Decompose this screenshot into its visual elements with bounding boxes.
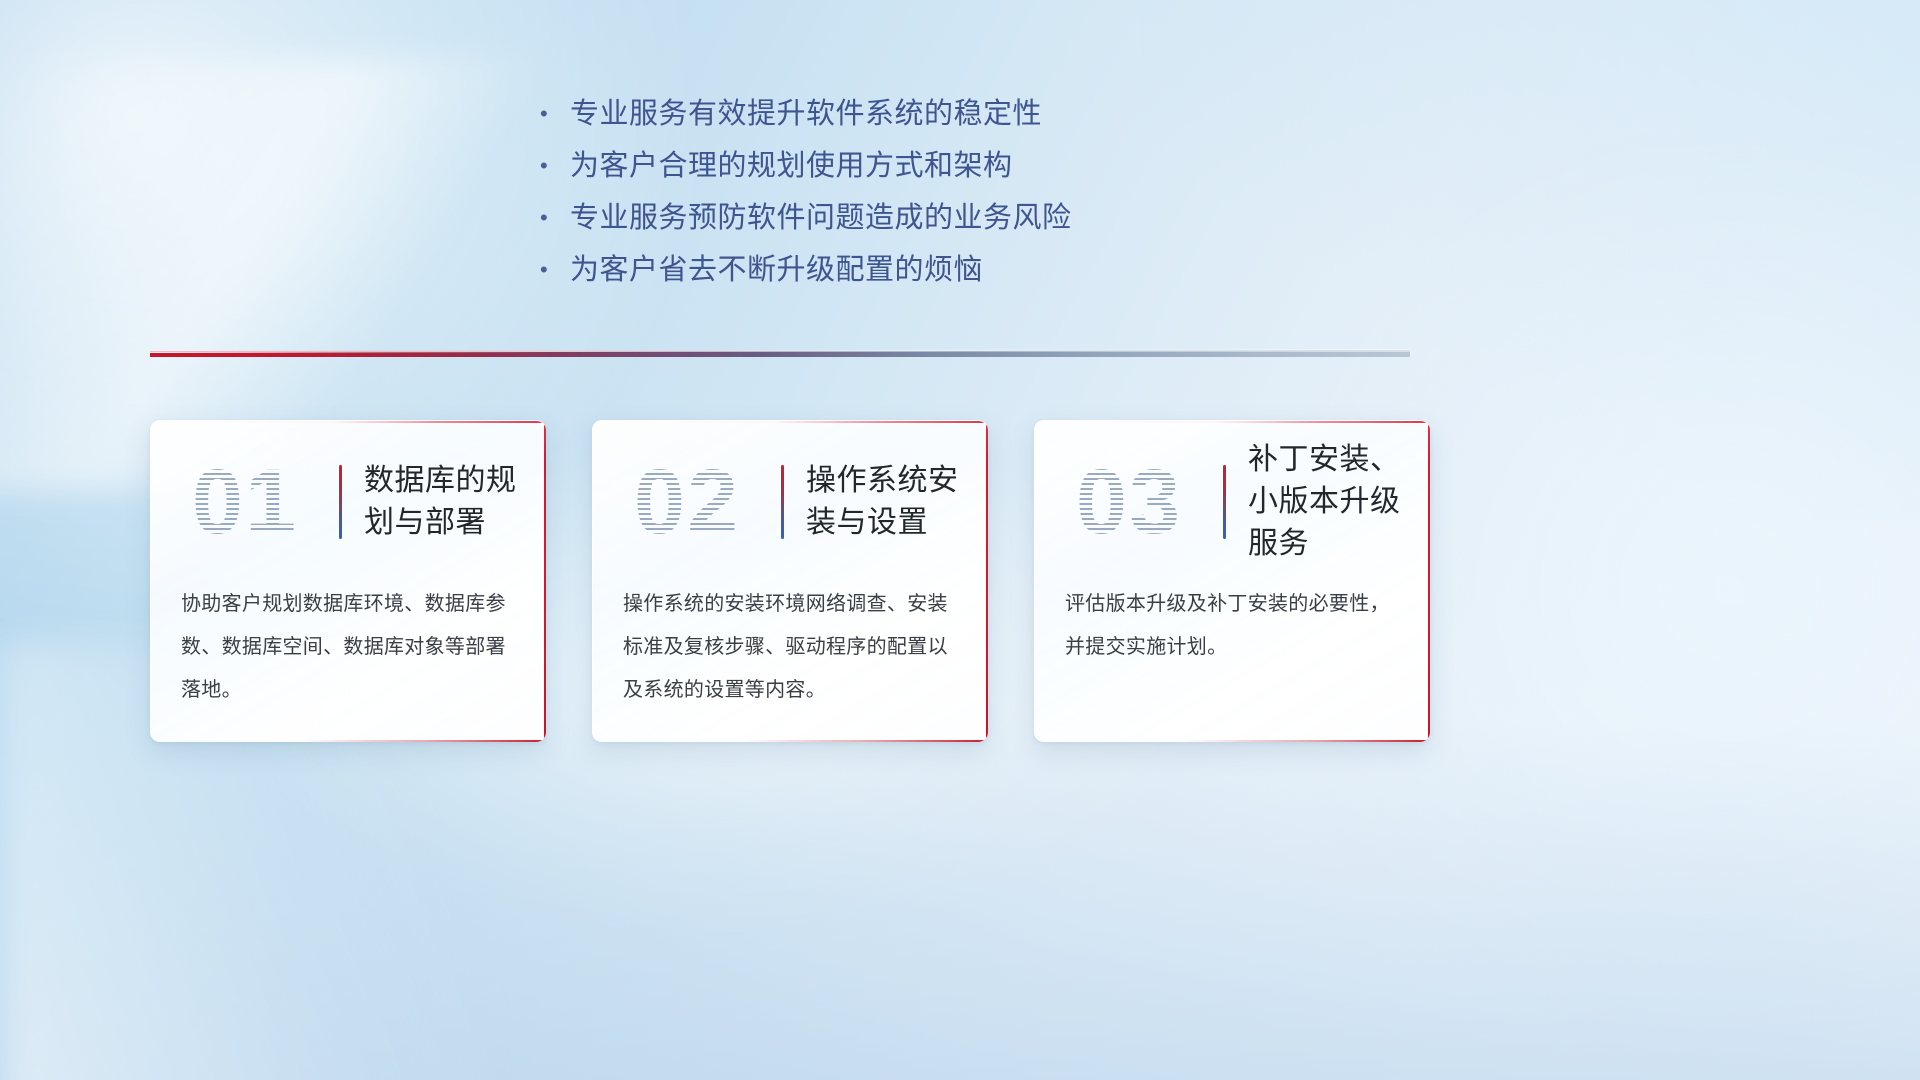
card-description: 操作系统的安装环境网络调查、安装标准及复核步骤、驱动程序的配置以及系统的设置等内… (623, 583, 962, 712)
bullet-item-label: 为客户省去不断升级配置的烦恼 (570, 248, 983, 292)
card-number-watermark: 02 (593, 443, 781, 561)
bullet-dot-icon: • (540, 144, 570, 188)
divider-highlight (150, 349, 1410, 352)
card-number-watermark: 01 (151, 443, 339, 561)
service-card-01[interactable]: 01 数据库的规划与部署 协助客户规划数据库环境、数据库参数、数据库空间、数据库… (150, 420, 546, 742)
card-title: 补丁安装、小版本升级服务 (1248, 439, 1430, 565)
list-item: • 为客户合理的规划使用方式和架构 (540, 144, 1360, 196)
card-header: 02 操作系统安装与设置 (593, 443, 988, 561)
card-title: 数据库的规划与部署 (364, 460, 546, 544)
card-top-accent-line (1035, 421, 1430, 423)
card-top-accent-line (593, 421, 988, 423)
card-number-watermark: 03 (1035, 443, 1223, 561)
bullet-item-label: 专业服务预防软件问题造成的业务风险 (570, 196, 1072, 240)
bullet-item-label: 为客户合理的规划使用方式和架构 (570, 144, 1013, 188)
section-divider (150, 346, 1410, 362)
card-description: 协助客户规划数据库环境、数据库参数、数据库空间、数据库对象等部署落地。 (181, 583, 520, 712)
card-accent-bar (1223, 465, 1226, 539)
list-item: • 专业服务预防软件问题造成的业务风险 (540, 196, 1360, 248)
bullet-dot-icon: • (540, 248, 570, 292)
service-card-group: 01 数据库的规划与部署 协助客户规划数据库环境、数据库参数、数据库空间、数据库… (150, 420, 1430, 742)
card-title: 操作系统安装与设置 (806, 460, 988, 544)
card-description: 评估版本升级及补丁安装的必要性，并提交实施计划。 (1065, 583, 1404, 669)
list-item: • 为客户省去不断升级配置的烦恼 (540, 248, 1360, 300)
card-bottom-accent-line (1185, 740, 1430, 742)
card-top-accent-line (151, 421, 546, 423)
service-card-02[interactable]: 02 操作系统安装与设置 操作系统的安装环境网络调查、安装标准及复核步骤、驱动程… (592, 420, 988, 742)
benefits-bullet-list: • 专业服务有效提升软件系统的稳定性 • 为客户合理的规划使用方式和架构 • 专… (540, 92, 1360, 300)
card-accent-bar (781, 465, 784, 539)
card-bottom-accent-line (743, 740, 988, 742)
card-header: 03 补丁安装、小版本升级服务 (1035, 443, 1430, 561)
service-card-03[interactable]: 03 补丁安装、小版本升级服务 评估版本升级及补丁安装的必要性，并提交实施计划。 (1034, 420, 1430, 742)
bullet-dot-icon: • (540, 92, 570, 136)
card-header: 01 数据库的规划与部署 (151, 443, 546, 561)
bullet-item-label: 专业服务有效提升软件系统的稳定性 (570, 92, 1042, 136)
list-item: • 专业服务有效提升软件系统的稳定性 (540, 92, 1360, 144)
card-accent-bar (339, 465, 342, 539)
card-bottom-accent-line (301, 740, 546, 742)
bullet-dot-icon: • (540, 196, 570, 240)
